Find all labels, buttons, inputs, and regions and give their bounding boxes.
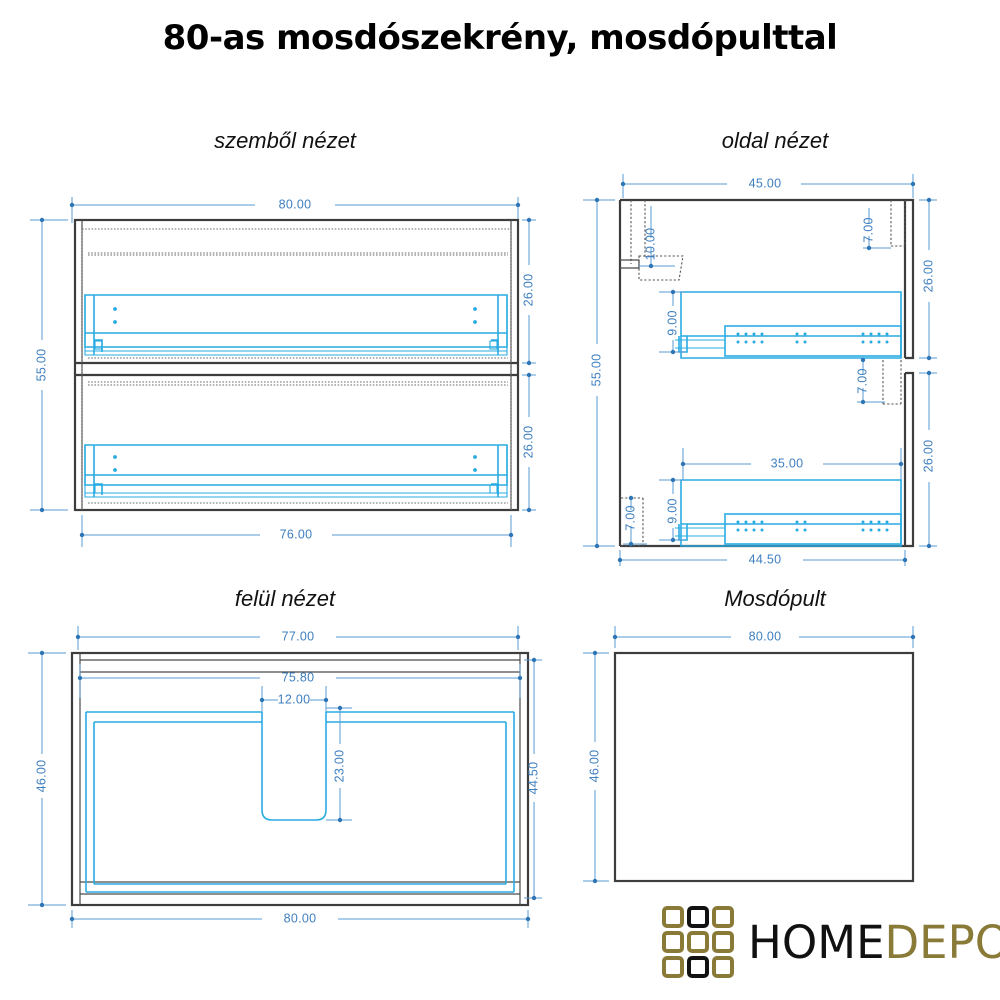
dim-value: 12.00	[278, 692, 311, 706]
drawer-plan-outline	[86, 712, 514, 892]
dim-value: 9.00	[665, 498, 679, 524]
side-thickness	[80, 653, 520, 905]
view-label-top: felül nézet	[175, 586, 395, 612]
dim-value: 44.50	[749, 552, 782, 566]
drawing-sheet: 80-as mosdószekrény, mosdópulttal szembő…	[0, 0, 1000, 1000]
dim-value: 26.00	[521, 426, 535, 459]
view-label-counter: Mosdópult	[665, 586, 885, 612]
logo-cell	[662, 931, 684, 953]
dim-side-inset-top-right: 7.00	[861, 200, 905, 250]
cabinet-outline	[75, 220, 518, 510]
dim-side-top-depth: 45.00	[621, 174, 915, 198]
dim-value: 76.00	[280, 527, 313, 541]
logo-cell	[662, 956, 684, 978]
dim-side-lower-drawer: 26.00	[919, 371, 937, 548]
dim-value: 46.00	[587, 750, 601, 783]
dim-top-outer-width: 80.00	[70, 910, 530, 928]
dim-value: 26.00	[921, 440, 935, 473]
front-view-drawing: 80.00	[20, 185, 540, 555]
upper-drawer-side: 9.00	[659, 290, 901, 358]
logo-cell	[687, 931, 709, 953]
logo-cell	[687, 956, 709, 978]
side-panel-lines	[82, 220, 511, 510]
wall-bracket-detail: 10.00	[620, 200, 683, 280]
dim-value: 80.00	[279, 197, 312, 211]
upper-front-panel	[905, 200, 913, 358]
logo-cell	[662, 906, 684, 928]
hidden-lines-front	[82, 229, 511, 510]
dim-top-inner-width: 77.00	[76, 626, 520, 650]
lower-drawer-side: 9.00	[659, 478, 901, 546]
logo-cell	[712, 931, 734, 953]
dim-value: 55.00	[34, 349, 48, 382]
dim-counter-depth: 46.00	[583, 651, 609, 883]
dim-front-height: 55.00	[30, 218, 68, 512]
dim-side-inset-mid-right: 7.00	[855, 358, 901, 404]
dim-value: 26.00	[521, 274, 535, 307]
brand-logo: HOME DEPO	[662, 906, 1000, 978]
dim-side-drawer-depth: 35.00	[681, 448, 903, 480]
dim-front-bottom-width: 76.00	[80, 515, 513, 547]
view-label-side: oldal nézet	[665, 128, 885, 154]
dim-value: 55.00	[589, 354, 603, 387]
carcass-outline	[72, 653, 528, 905]
dim-counter-width: 80.00	[613, 626, 915, 648]
dim-value: 80.00	[284, 911, 317, 925]
logo-grid-icon	[662, 906, 734, 978]
slide-screw-holes	[737, 521, 889, 532]
dim-value: 7.00	[623, 505, 637, 531]
dim-side-upper-drawer: 26.00	[919, 198, 937, 360]
dim-front-lower-drawer: 26.00	[521, 373, 536, 512]
counter-view-drawing: 80.00 46.00	[575, 620, 975, 910]
logo-text-depo: DEPO	[885, 920, 1000, 965]
dim-value: 9.00	[665, 310, 679, 336]
logo-cell	[712, 906, 734, 928]
dim-top-cutout-depth: 23.00	[326, 706, 352, 822]
dim-value: 7.00	[861, 217, 875, 243]
lower-drawer-front	[85, 445, 507, 497]
side-view-drawing: 45.00 10.00	[575, 168, 995, 568]
top-view-drawing: 77.00 75.80	[20, 620, 550, 930]
dim-side-inset-bottom-left: 7.00	[621, 496, 647, 546]
dim-value: 35.00	[771, 456, 804, 470]
drawer-divider	[75, 363, 518, 375]
logo-text-home: HOME	[748, 920, 885, 965]
page-title: 80-as mosdószekrény, mosdópulttal	[0, 18, 1000, 58]
dim-top-outer-depth: 46.00	[28, 651, 66, 907]
slide-screw-holes	[737, 333, 889, 344]
dim-value: 44.50	[526, 762, 540, 795]
dim-top-inner-depth: 44.50	[524, 658, 542, 900]
view-label-front: szemből nézet	[175, 128, 395, 154]
logo-cell	[712, 956, 734, 978]
dim-side-bottom-depth: 44.50	[618, 550, 907, 566]
dim-value: 26.00	[921, 260, 935, 293]
dim-front-upper-drawer: 26.00	[521, 218, 536, 365]
dim-side-height: 55.00	[583, 198, 615, 548]
upper-drawer-front	[85, 295, 507, 355]
dim-value: 7.00	[855, 368, 869, 394]
sink-cutout	[262, 712, 326, 820]
dim-value: 80.00	[749, 629, 782, 643]
lower-front-panel	[905, 373, 913, 546]
dim-value: 23.00	[332, 750, 346, 783]
dim-value: 10.00	[643, 228, 657, 261]
dim-value: 46.00	[34, 760, 48, 793]
dim-value: 75.80	[282, 670, 315, 684]
dim-value: 77.00	[282, 629, 315, 643]
dim-top-cutout-width: 12.00	[260, 686, 328, 712]
logo-cell	[687, 906, 709, 928]
dim-value: 45.00	[749, 176, 782, 190]
